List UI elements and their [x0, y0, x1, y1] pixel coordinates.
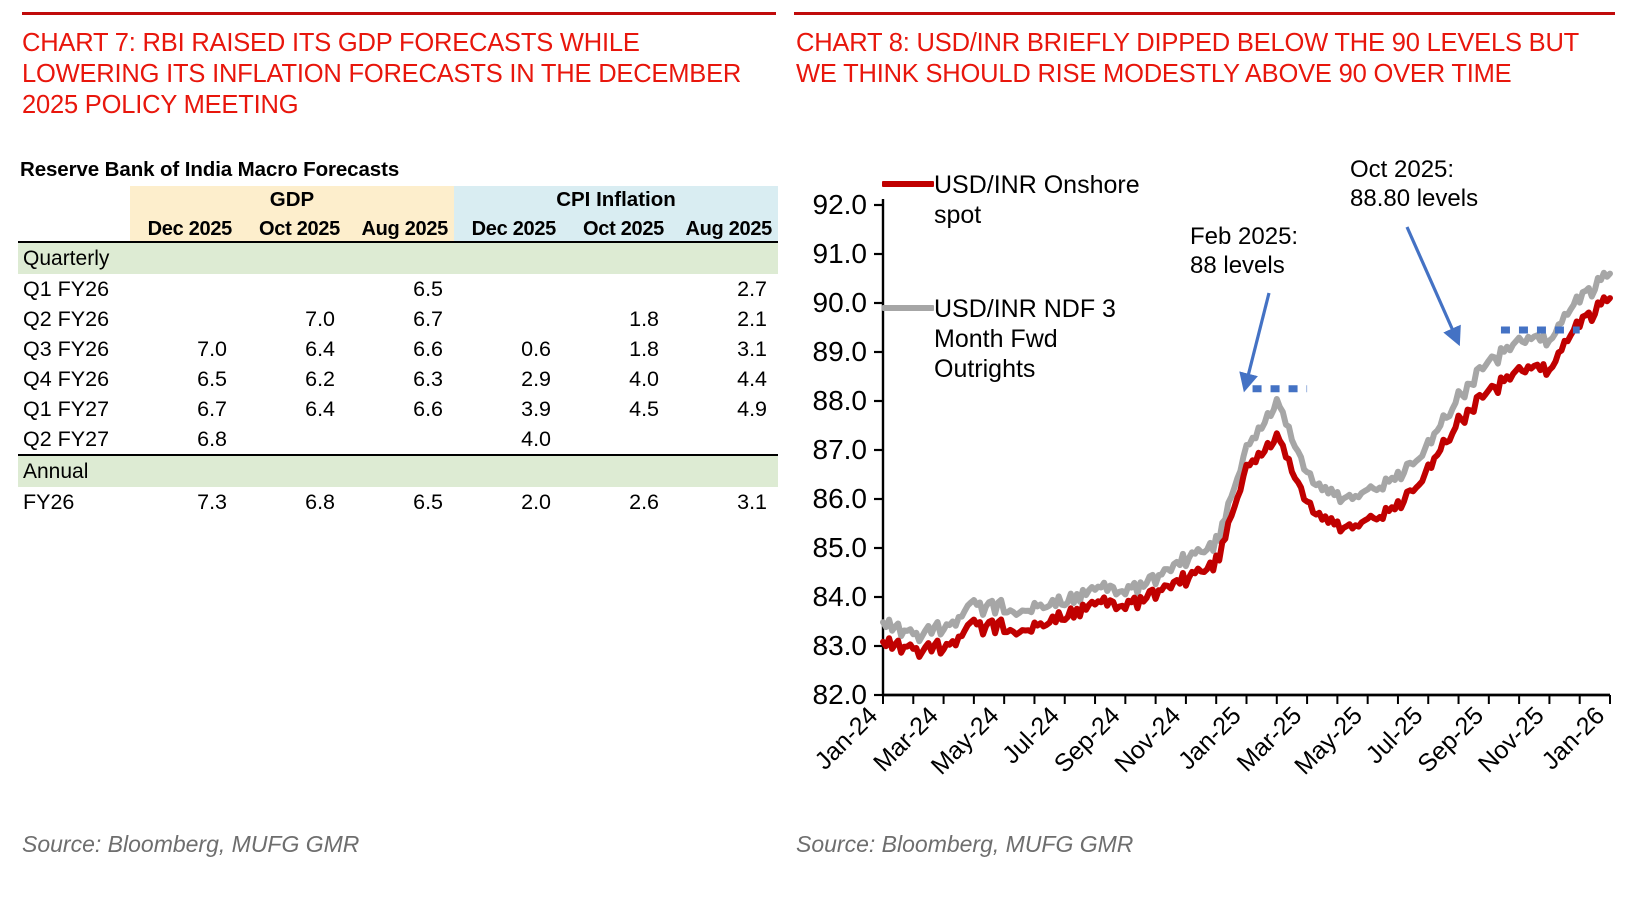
cell: 2.1 [670, 304, 778, 334]
svg-text:90.0: 90.0 [813, 287, 868, 318]
svg-text:May-25: May-25 [1289, 701, 1368, 780]
row-label: Q1 FY26 [18, 274, 130, 304]
group-header-blank [18, 186, 130, 213]
cell [670, 424, 778, 455]
col-header-gdp-aug-2025: Aug 2025 [346, 213, 454, 242]
svg-text:Sep-25: Sep-25 [1412, 701, 1489, 778]
svg-text:Jan-25: Jan-25 [1173, 701, 1247, 775]
cell [238, 274, 346, 304]
legend-swatch-ndf-icon [882, 305, 934, 311]
chart7-source: Source: Bloomberg, MUFG GMR [22, 831, 359, 858]
cell: 2.0 [454, 487, 562, 517]
svg-text:89.0: 89.0 [813, 336, 868, 367]
cell: 7.0 [238, 304, 346, 334]
cell [454, 274, 562, 304]
svg-text:88.0: 88.0 [813, 385, 868, 416]
svg-text:83.0: 83.0 [813, 630, 868, 661]
row-label: Q1 FY27 [18, 394, 130, 424]
cell: 6.7 [346, 304, 454, 334]
svg-text:87.0: 87.0 [813, 434, 868, 465]
col-header-cpi-dec-2025: Dec 2025 [454, 213, 562, 242]
cell: 1.8 [562, 334, 670, 364]
chart-legend: USD/INR Onshore spot USD/INR NDF 3 Month… [882, 170, 1164, 384]
chart7-panel: CHART 7: RBI RAISED ITS GDP FORECASTS WH… [0, 0, 790, 906]
cell: 7.3 [130, 487, 238, 517]
cell [130, 304, 238, 334]
chart7-title: CHART 7: RBI RAISED ITS GDP FORECASTS WH… [22, 28, 782, 121]
chart8-panel: CHART 8: USD/INR BRIEFLY DIPPED BELOW TH… [790, 0, 1625, 906]
legend-swatch-onshore-icon [882, 181, 934, 187]
report-page: CHART 7: RBI RAISED ITS GDP FORECASTS WH… [0, 0, 1625, 906]
cell [562, 424, 670, 455]
table-row: FY26 7.3 6.8 6.5 2.0 2.6 3.1 [18, 487, 778, 517]
svg-text:May-24: May-24 [926, 701, 1005, 780]
section-band-annual: Annual [18, 455, 778, 487]
svg-text:Sep-24: Sep-24 [1049, 701, 1126, 778]
col-header-gdp-oct-2025: Oct 2025 [238, 213, 346, 242]
cell [562, 274, 670, 304]
col-header-blank [18, 213, 130, 242]
section-band-quarterly: Quarterly [18, 242, 778, 274]
svg-text:Nov-25: Nov-25 [1473, 701, 1550, 778]
legend-item-ndf: USD/INR NDF 3 Month Fwd Outrights [882, 294, 1164, 384]
feb-2025-annotation: Feb 2025: 88 levels [1190, 222, 1298, 280]
svg-text:92.0: 92.0 [813, 189, 868, 220]
col-header-gdp-dec-2025: Dec 2025 [130, 213, 238, 242]
cell: 2.7 [670, 274, 778, 304]
cell: 0.6 [454, 334, 562, 364]
cell [454, 304, 562, 334]
cell: 6.6 [346, 334, 454, 364]
legend-label-onshore: USD/INR Onshore spot [934, 170, 1164, 230]
cell: 3.9 [454, 394, 562, 424]
svg-text:Nov-24: Nov-24 [1109, 701, 1186, 778]
chart8-source: Source: Bloomberg, MUFG GMR [796, 831, 1133, 858]
cell: 6.8 [130, 424, 238, 455]
row-label: FY26 [18, 487, 130, 517]
cell: 6.4 [238, 394, 346, 424]
svg-text:Jan-26: Jan-26 [1536, 701, 1610, 775]
cell: 6.2 [238, 364, 346, 394]
table-row: Q3 FY26 7.0 6.4 6.6 0.6 1.8 3.1 [18, 334, 778, 364]
chart8-title: CHART 8: USD/INR BRIEFLY DIPPED BELOW TH… [796, 28, 1621, 90]
table-column-header-row: Dec 2025 Oct 2025 Aug 2025 Dec 2025 Oct … [18, 213, 778, 242]
cell: 4.9 [670, 394, 778, 424]
svg-text:Jan-24: Jan-24 [809, 701, 883, 775]
table-row: Q4 FY26 6.5 6.2 6.3 2.9 4.0 4.4 [18, 364, 778, 394]
cell: 2.9 [454, 364, 562, 394]
cell: 6.6 [346, 394, 454, 424]
group-header-gdp: GDP [130, 186, 454, 213]
cell [130, 274, 238, 304]
rbi-forecast-table-wrapper: Reserve Bank of India Macro Forecasts GD… [18, 158, 778, 517]
cell: 6.5 [130, 364, 238, 394]
section-band-label: Annual [18, 455, 778, 487]
svg-text:86.0: 86.0 [813, 483, 868, 514]
table-row: Q2 FY26 7.0 6.7 1.8 2.1 [18, 304, 778, 334]
col-header-cpi-aug-2025: Aug 2025 [670, 213, 778, 242]
row-label: Q2 FY27 [18, 424, 130, 455]
cell: 1.8 [562, 304, 670, 334]
cell: 6.7 [130, 394, 238, 424]
table-row: Q2 FY27 6.8 4.0 [18, 424, 778, 455]
cell: 6.5 [346, 487, 454, 517]
cell: 4.0 [454, 424, 562, 455]
top-rule-left [22, 12, 776, 15]
table-row: Q1 FY26 6.5 2.7 [18, 274, 778, 304]
cell: 6.8 [238, 487, 346, 517]
group-header-cpi: CPI Inflation [454, 186, 778, 213]
cell: 3.1 [670, 487, 778, 517]
col-header-cpi-oct-2025: Oct 2025 [562, 213, 670, 242]
table-caption: Reserve Bank of India Macro Forecasts [20, 158, 778, 182]
cell: 6.4 [238, 334, 346, 364]
cell: 6.5 [346, 274, 454, 304]
svg-text:91.0: 91.0 [813, 238, 868, 269]
rbi-forecast-table: GDP CPI Inflation Dec 2025 Oct 2025 Aug … [18, 186, 778, 517]
cell: 4.4 [670, 364, 778, 394]
table-group-header-row: GDP CPI Inflation [18, 186, 778, 213]
cell: 7.0 [130, 334, 238, 364]
cell: 2.6 [562, 487, 670, 517]
cell: 4.0 [562, 364, 670, 394]
section-band-label: Quarterly [18, 242, 778, 274]
top-rule-right [794, 12, 1615, 15]
cell [346, 424, 454, 455]
svg-text:84.0: 84.0 [813, 581, 868, 612]
cell [238, 424, 346, 455]
cell: 6.3 [346, 364, 454, 394]
row-label: Q4 FY26 [18, 364, 130, 394]
svg-text:85.0: 85.0 [813, 532, 868, 563]
oct-2025-annotation: Oct 2025: 88.80 levels [1350, 155, 1478, 213]
usdinr-line-chart: 82.083.084.085.086.087.088.089.090.091.0… [790, 150, 1625, 810]
legend-item-onshore: USD/INR Onshore spot [882, 170, 1164, 230]
cell: 3.1 [670, 334, 778, 364]
legend-label-ndf: USD/INR NDF 3 Month Fwd Outrights [934, 294, 1164, 384]
table-row: Q1 FY27 6.7 6.4 6.6 3.9 4.5 4.9 [18, 394, 778, 424]
row-label: Q3 FY26 [18, 334, 130, 364]
cell: 4.5 [562, 394, 670, 424]
row-label: Q2 FY26 [18, 304, 130, 334]
